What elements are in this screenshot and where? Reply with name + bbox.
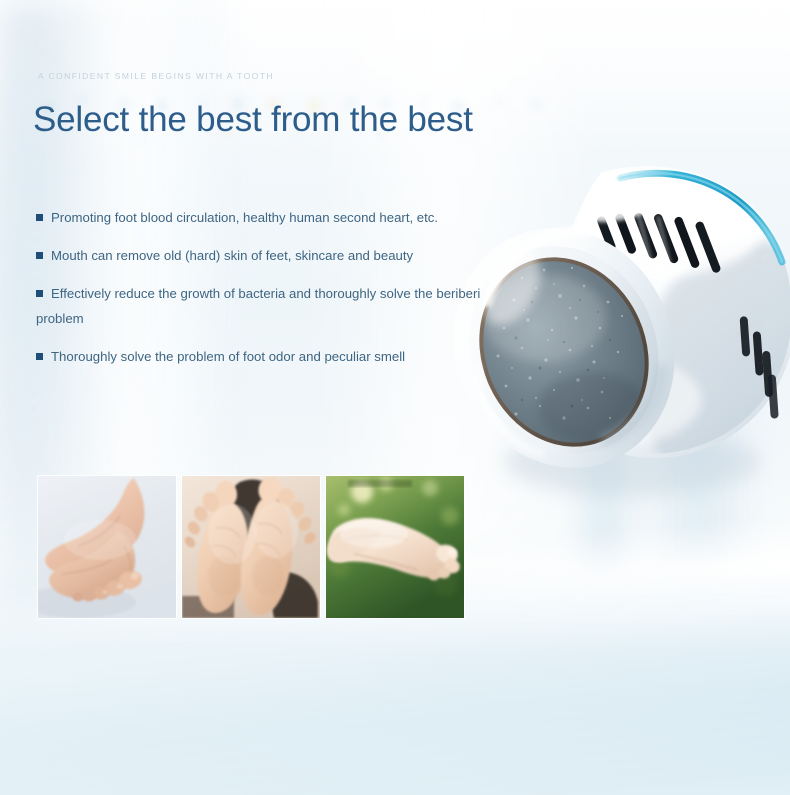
banner-eyebrow-text: A CONFIDENT SMILE BEGINS WITH A TOOTH <box>38 71 274 81</box>
feature-bullet-text: Thoroughly solve the problem of foot odo… <box>51 349 405 364</box>
feature-bullet-item: Promoting foot blood circulation, health… <box>36 205 496 230</box>
feature-bullet-text: Mouth can remove old (hard) skin of feet… <box>51 248 413 263</box>
photo-foot-outdoors <box>326 476 464 618</box>
square-bullet-icon <box>36 353 43 360</box>
feature-bullet-item: Mouth can remove old (hard) skin of feet… <box>36 243 496 268</box>
feature-bullet-list: Promoting foot blood circulation, health… <box>36 205 496 382</box>
banner-headline: Select the best from the best <box>33 100 473 140</box>
photo-soles-up <box>182 476 320 618</box>
feature-bullet-item: Effectively reduce the growth of bacteri… <box>36 281 496 331</box>
feature-bullet-text: Promoting foot blood circulation, health… <box>51 210 438 225</box>
feature-bullet-text: Effectively reduce the growth of bacteri… <box>36 286 480 326</box>
product-feature-banner: A CONFIDENT SMILE BEGINS WITH A TOOTH Se… <box>0 0 790 795</box>
banner-content: A CONFIDENT SMILE BEGINS WITH A TOOTH Se… <box>0 0 790 795</box>
square-bullet-icon <box>36 252 43 259</box>
square-bullet-icon <box>36 290 43 297</box>
feature-bullet-item-highlighted: Thoroughly solve the problem of foot odo… <box>36 344 496 369</box>
feature-photo-strip <box>38 476 468 618</box>
square-bullet-icon <box>36 214 43 221</box>
photo-feet-resting <box>38 476 176 618</box>
